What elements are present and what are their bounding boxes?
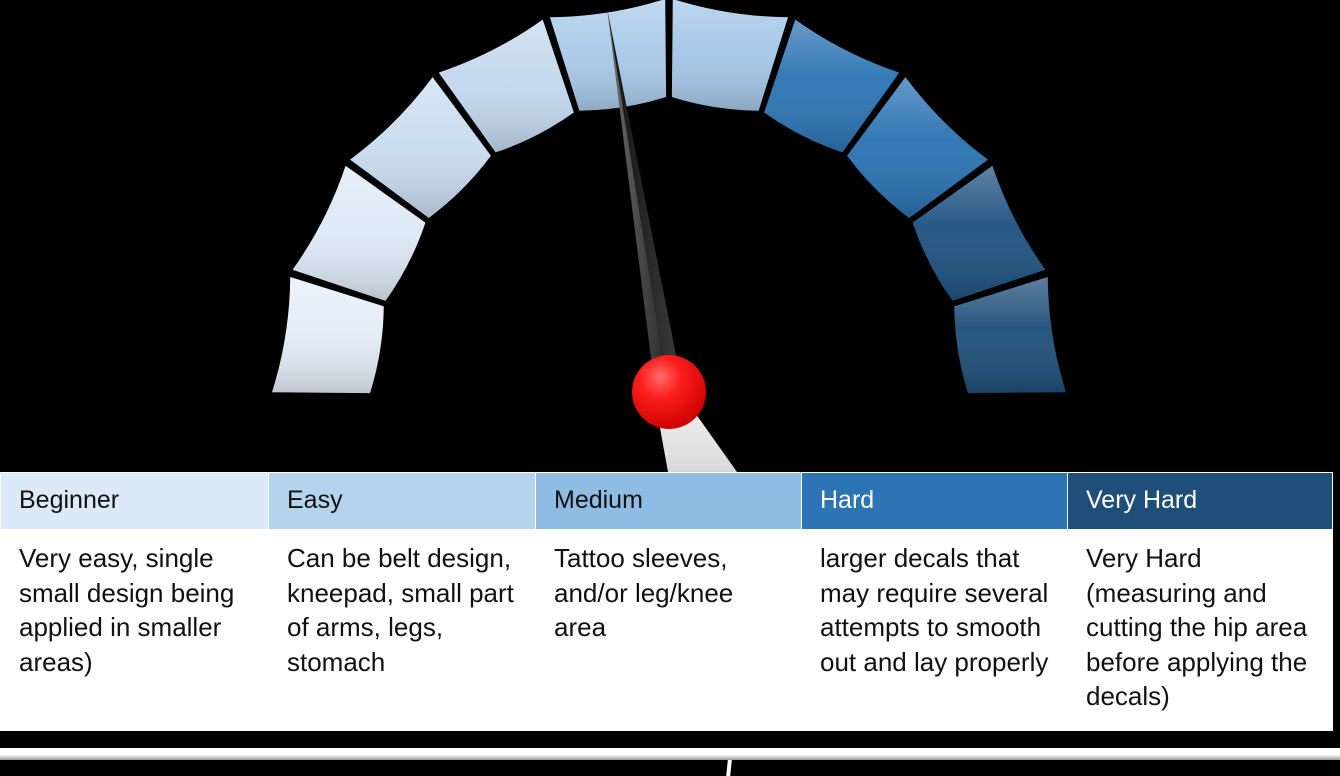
needle-hub (632, 355, 706, 429)
gauge-chart (0, 0, 1340, 472)
body-cell-hard: larger decals that may require several a… (802, 530, 1068, 730)
body-cell-easy: Can be belt design, kneepad, small part … (269, 530, 536, 730)
header-cell-medium: Medium (536, 473, 802, 531)
needle-tail-extension (726, 760, 732, 776)
header-cell-beginner: Beginner (1, 473, 269, 531)
table-row: Very easy, single small design being app… (1, 530, 1333, 730)
slide-canvas: Beginner Easy Medium Hard Very Hard Very… (0, 0, 1340, 776)
gauge-svg (0, 0, 1340, 472)
slide-bottom-edge (0, 748, 1340, 760)
body-cell-beginner: Very easy, single small design being app… (1, 530, 269, 730)
table-header-row: Beginner Easy Medium Hard Very Hard (1, 473, 1333, 531)
body-cell-medium: Tattoo sleeves, and/or leg/knee area (536, 530, 802, 730)
body-cell-very-hard: Very Hard (measuring and cutting the hip… (1068, 530, 1333, 730)
difficulty-legend-table: Beginner Easy Medium Hard Very Hard Very… (0, 472, 1333, 731)
header-cell-very-hard: Very Hard (1068, 473, 1333, 531)
header-cell-hard: Hard (802, 473, 1068, 531)
header-cell-easy: Easy (269, 473, 536, 531)
